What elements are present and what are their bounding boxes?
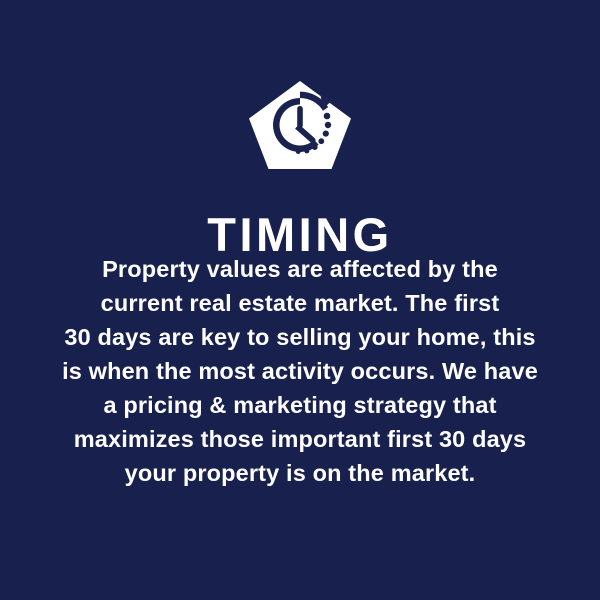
body-line: Property values are affected by the xyxy=(40,252,560,286)
body-paragraph: Property values are affected by the curr… xyxy=(40,252,560,490)
clock-rotate-arrow-icon xyxy=(248,80,352,170)
timing-info-card: TIMING Property values are affected by t… xyxy=(0,0,600,600)
body-line: is when the most activity occurs. We hav… xyxy=(40,354,560,388)
body-line: a pricing & marketing strategy that xyxy=(40,388,560,422)
body-line: current real estate market. The first xyxy=(40,286,560,320)
body-line: 30 days are key to selling your home, th… xyxy=(40,320,560,354)
body-line: maximizes those important first 30 days xyxy=(40,422,560,456)
body-line: your property is on the market. xyxy=(40,456,560,490)
